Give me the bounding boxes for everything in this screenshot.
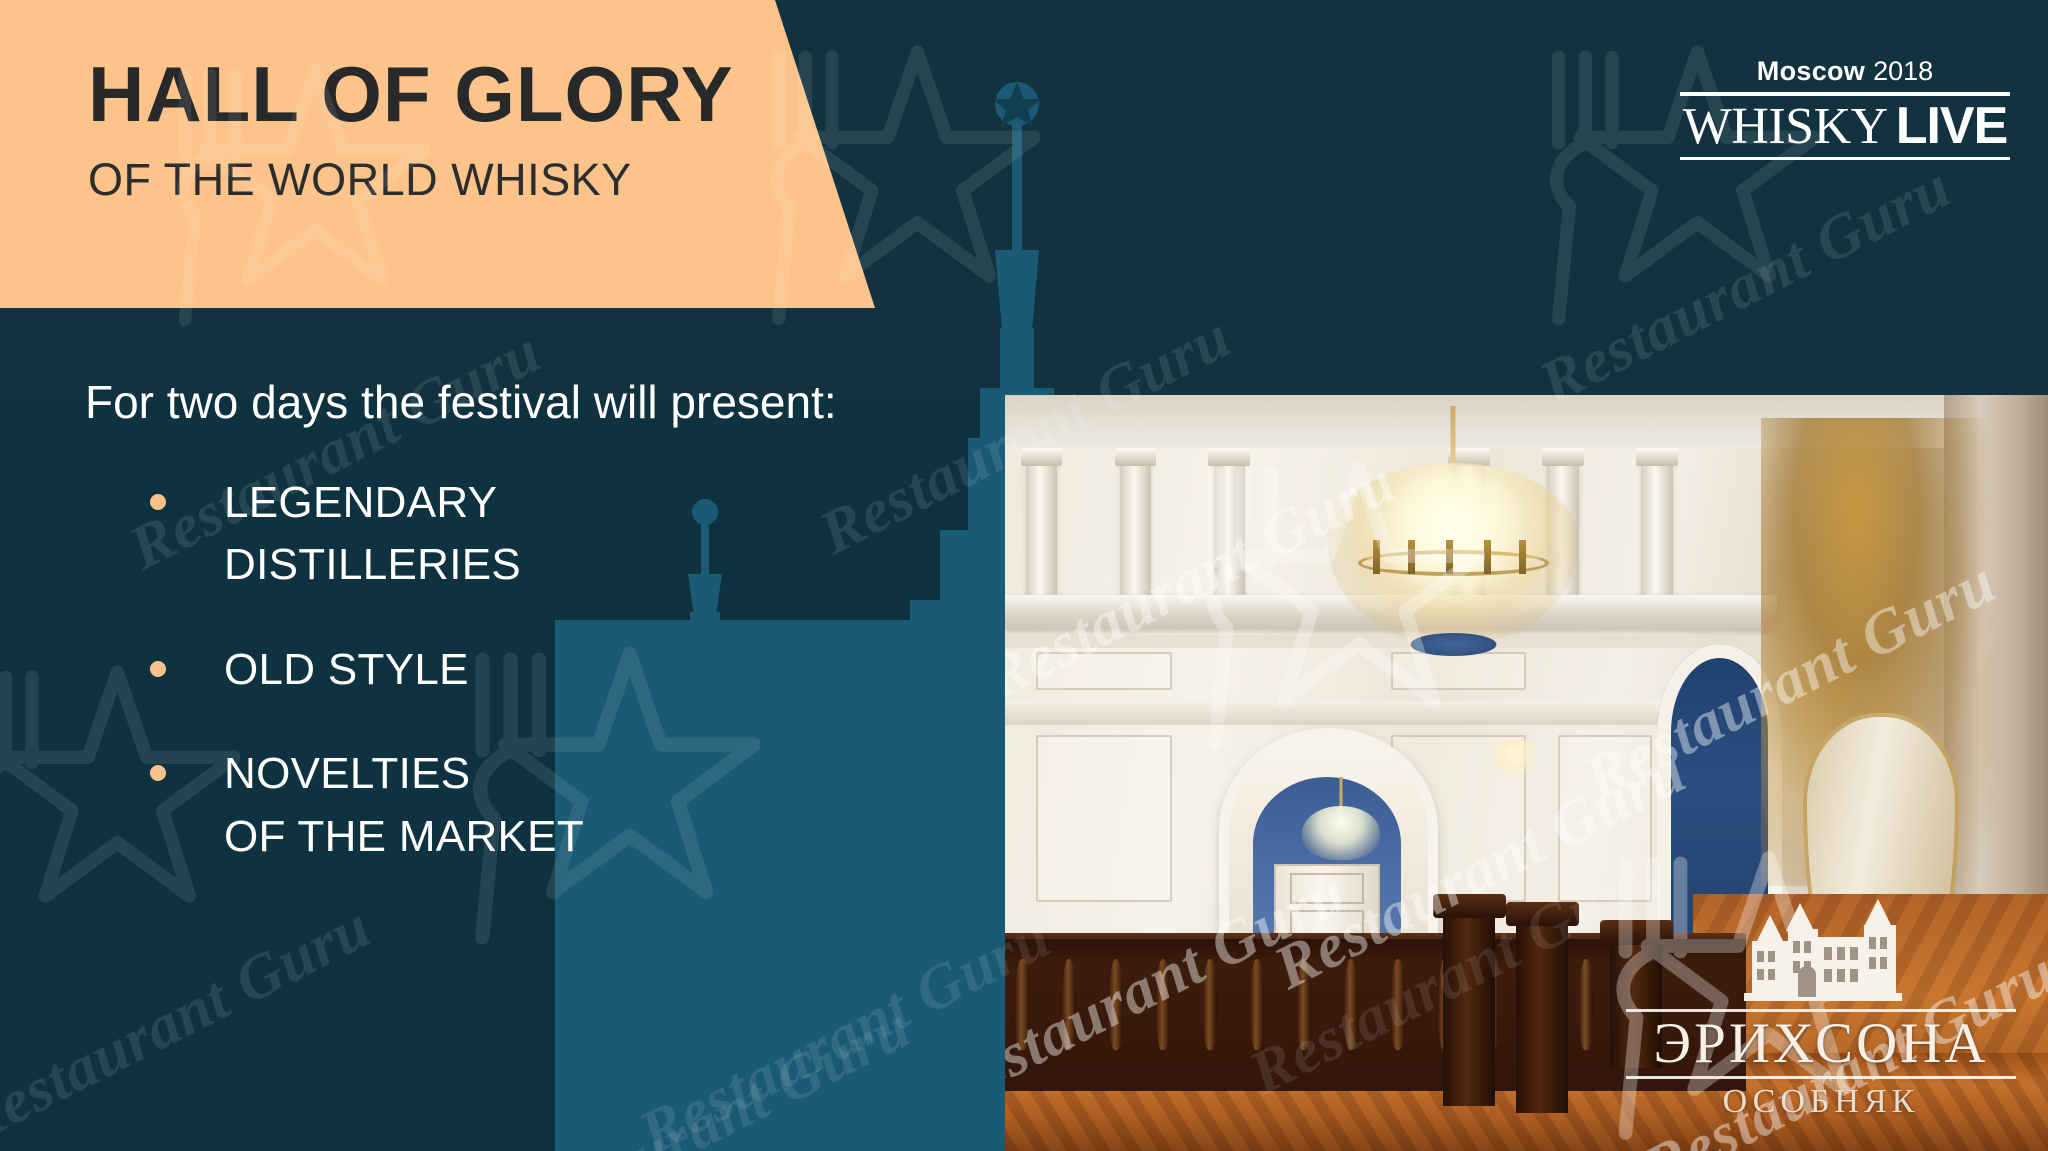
- logo-brand-live: LIVE: [1896, 97, 2008, 155]
- list-item-line: OF THE MARKET: [224, 806, 584, 868]
- chandelier-icon: [1328, 406, 1578, 663]
- logo-city: Moscow: [1757, 56, 1865, 86]
- mansion-logo-subtitle: ОСОБНЯК: [1626, 1083, 2016, 1121]
- list-item-label: NOVELTIES OF THE MARKET: [224, 743, 584, 868]
- list-item-line: DISTILLERIES: [224, 534, 521, 596]
- small-chandelier-icon: [1302, 777, 1380, 860]
- list-item-label: LEGENDARY DISTILLERIES: [224, 472, 521, 597]
- page-subtitle: OF THE WORLD WHISKY: [88, 154, 788, 206]
- logo-rule-top: [1680, 92, 2010, 96]
- mansion-building-icon: [1726, 897, 1916, 1007]
- logo-top-line: Moscow2018: [1680, 58, 2010, 85]
- logo-rule-bottom: [1680, 157, 2010, 160]
- bullet-dot-icon: [150, 765, 166, 781]
- header-text-group: HALL OF GLORY OF THE WORLD WHISKY: [88, 56, 788, 206]
- list-item-line: NOVELTIES: [224, 743, 584, 805]
- feature-list: LEGENDARY DISTILLERIES OLD STYLE NOVELTI…: [150, 472, 950, 910]
- bullet-dot-icon: [150, 661, 166, 677]
- list-item-line: OLD STYLE: [224, 639, 469, 701]
- list-item-line: LEGENDARY: [224, 472, 521, 534]
- mansion-logo-rule-bottom: [1626, 1076, 2016, 1079]
- intro-text: For two days the festival will present:: [85, 375, 837, 429]
- logo-year: 2018: [1873, 56, 1933, 86]
- hall-interior-photo: Restaurant Guru Restaurant Guru Restaura…: [1005, 395, 2048, 1151]
- logo-brand: WHISKYLIVE: [1680, 99, 2010, 154]
- erichson-mansion-logo: ЭРИХСОНА ОСОБНЯК: [1626, 897, 2016, 1121]
- slide-canvas: HALL OF GLORY OF THE WORLD WHISKY Moscow…: [0, 0, 2048, 1151]
- logo-brand-whisky: WHISKY: [1683, 98, 1888, 155]
- mansion-logo-name: ЭРИХСОНА: [1626, 1014, 2016, 1074]
- page-title: HALL OF GLORY: [88, 56, 788, 132]
- list-item: LEGENDARY DISTILLERIES: [150, 472, 950, 597]
- whisky-live-logo: Moscow2018 WHISKYLIVE: [1680, 58, 2010, 160]
- list-item: NOVELTIES OF THE MARKET: [150, 743, 950, 868]
- list-item-label: OLD STYLE: [224, 639, 469, 701]
- bullet-dot-icon: [150, 494, 166, 510]
- list-item: OLD STYLE: [150, 639, 950, 701]
